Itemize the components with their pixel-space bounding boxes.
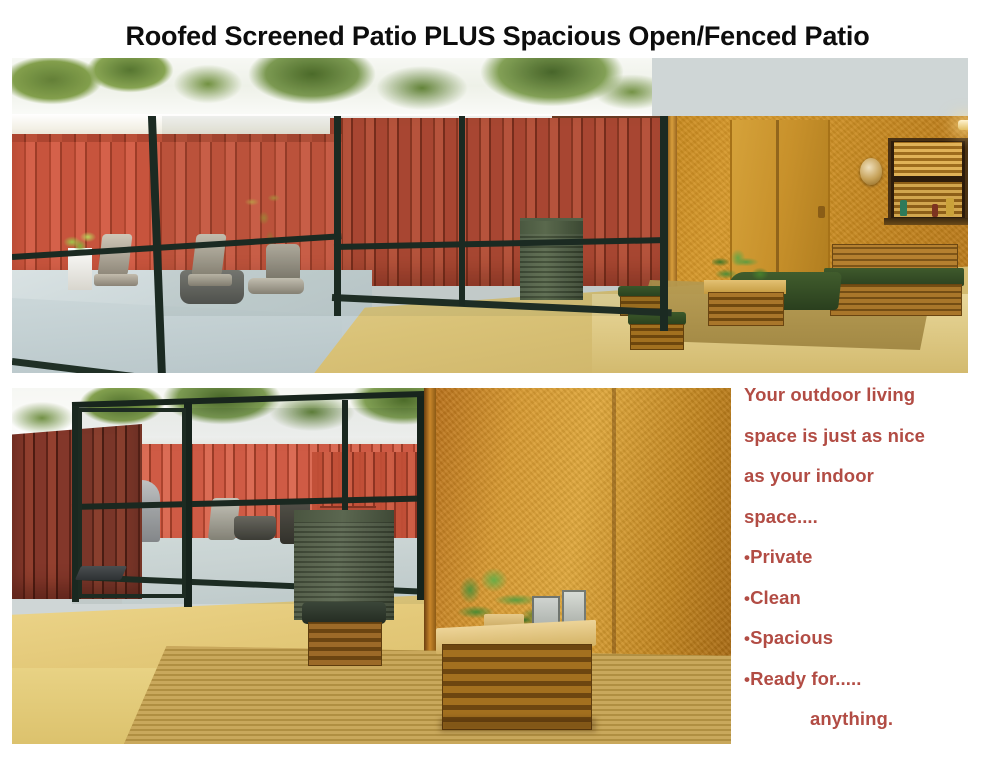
bullet-label: Spacious (750, 627, 833, 648)
wooden-bench-base (830, 284, 962, 316)
bottom-photo (12, 388, 731, 744)
copy-lead-line-1: Your outdoor living (744, 386, 992, 405)
bullet-label: Clean (750, 587, 801, 608)
top-photo (12, 58, 968, 373)
copy-lead-line-2: space is just as nice (744, 427, 992, 446)
bullet-item-clean: •Clean (744, 589, 992, 608)
screen-frame-post (417, 396, 424, 600)
ottoman-base (308, 622, 382, 666)
stucco-wall-corner (424, 388, 436, 688)
sisal-area-rug (124, 646, 731, 744)
page-title: Roofed Screened Patio PLUS Spacious Open… (0, 21, 995, 52)
window-sill (884, 218, 968, 225)
screen-frame-post (334, 116, 341, 316)
bullet-label: Private (750, 546, 812, 567)
coffee-table-base (708, 292, 784, 326)
bullet-label: Ready for..... (750, 668, 861, 689)
bullet-item-spacious: •Spacious (744, 629, 992, 648)
stucco-wall-seam (612, 388, 616, 680)
bullet-item-ready-for: •Ready for..... (744, 670, 992, 689)
copy-lead-line-4: space.... (744, 508, 992, 527)
ottoman-base (630, 324, 684, 350)
screen-frame-post (660, 116, 668, 331)
ottoman-cushion (302, 602, 386, 624)
screen-mesh-tint (162, 116, 662, 316)
wall-clock (860, 158, 882, 185)
window-blinds-upper (894, 142, 962, 176)
window-sill-bottle (932, 204, 938, 217)
wall-sconce-light (958, 120, 968, 130)
door-mat (75, 566, 127, 580)
marketing-copy: Your outdoor living space is just as nic… (744, 386, 992, 751)
window-sill-bottle (900, 200, 907, 216)
patio-lounge-chair (94, 234, 140, 300)
door-knob (818, 206, 825, 218)
copy-trailing-anything: anything. (810, 710, 992, 729)
window-sill-bottle (946, 198, 954, 216)
bullet-item-private: •Private (744, 548, 992, 567)
copy-lead-line-3: as your indoor (744, 467, 992, 486)
screen-frame-post (459, 116, 465, 306)
door-seam (776, 120, 779, 296)
slide-canvas: Roofed Screened Patio PLUS Spacious Open… (0, 0, 995, 768)
coffee-table-shadow (440, 718, 596, 732)
